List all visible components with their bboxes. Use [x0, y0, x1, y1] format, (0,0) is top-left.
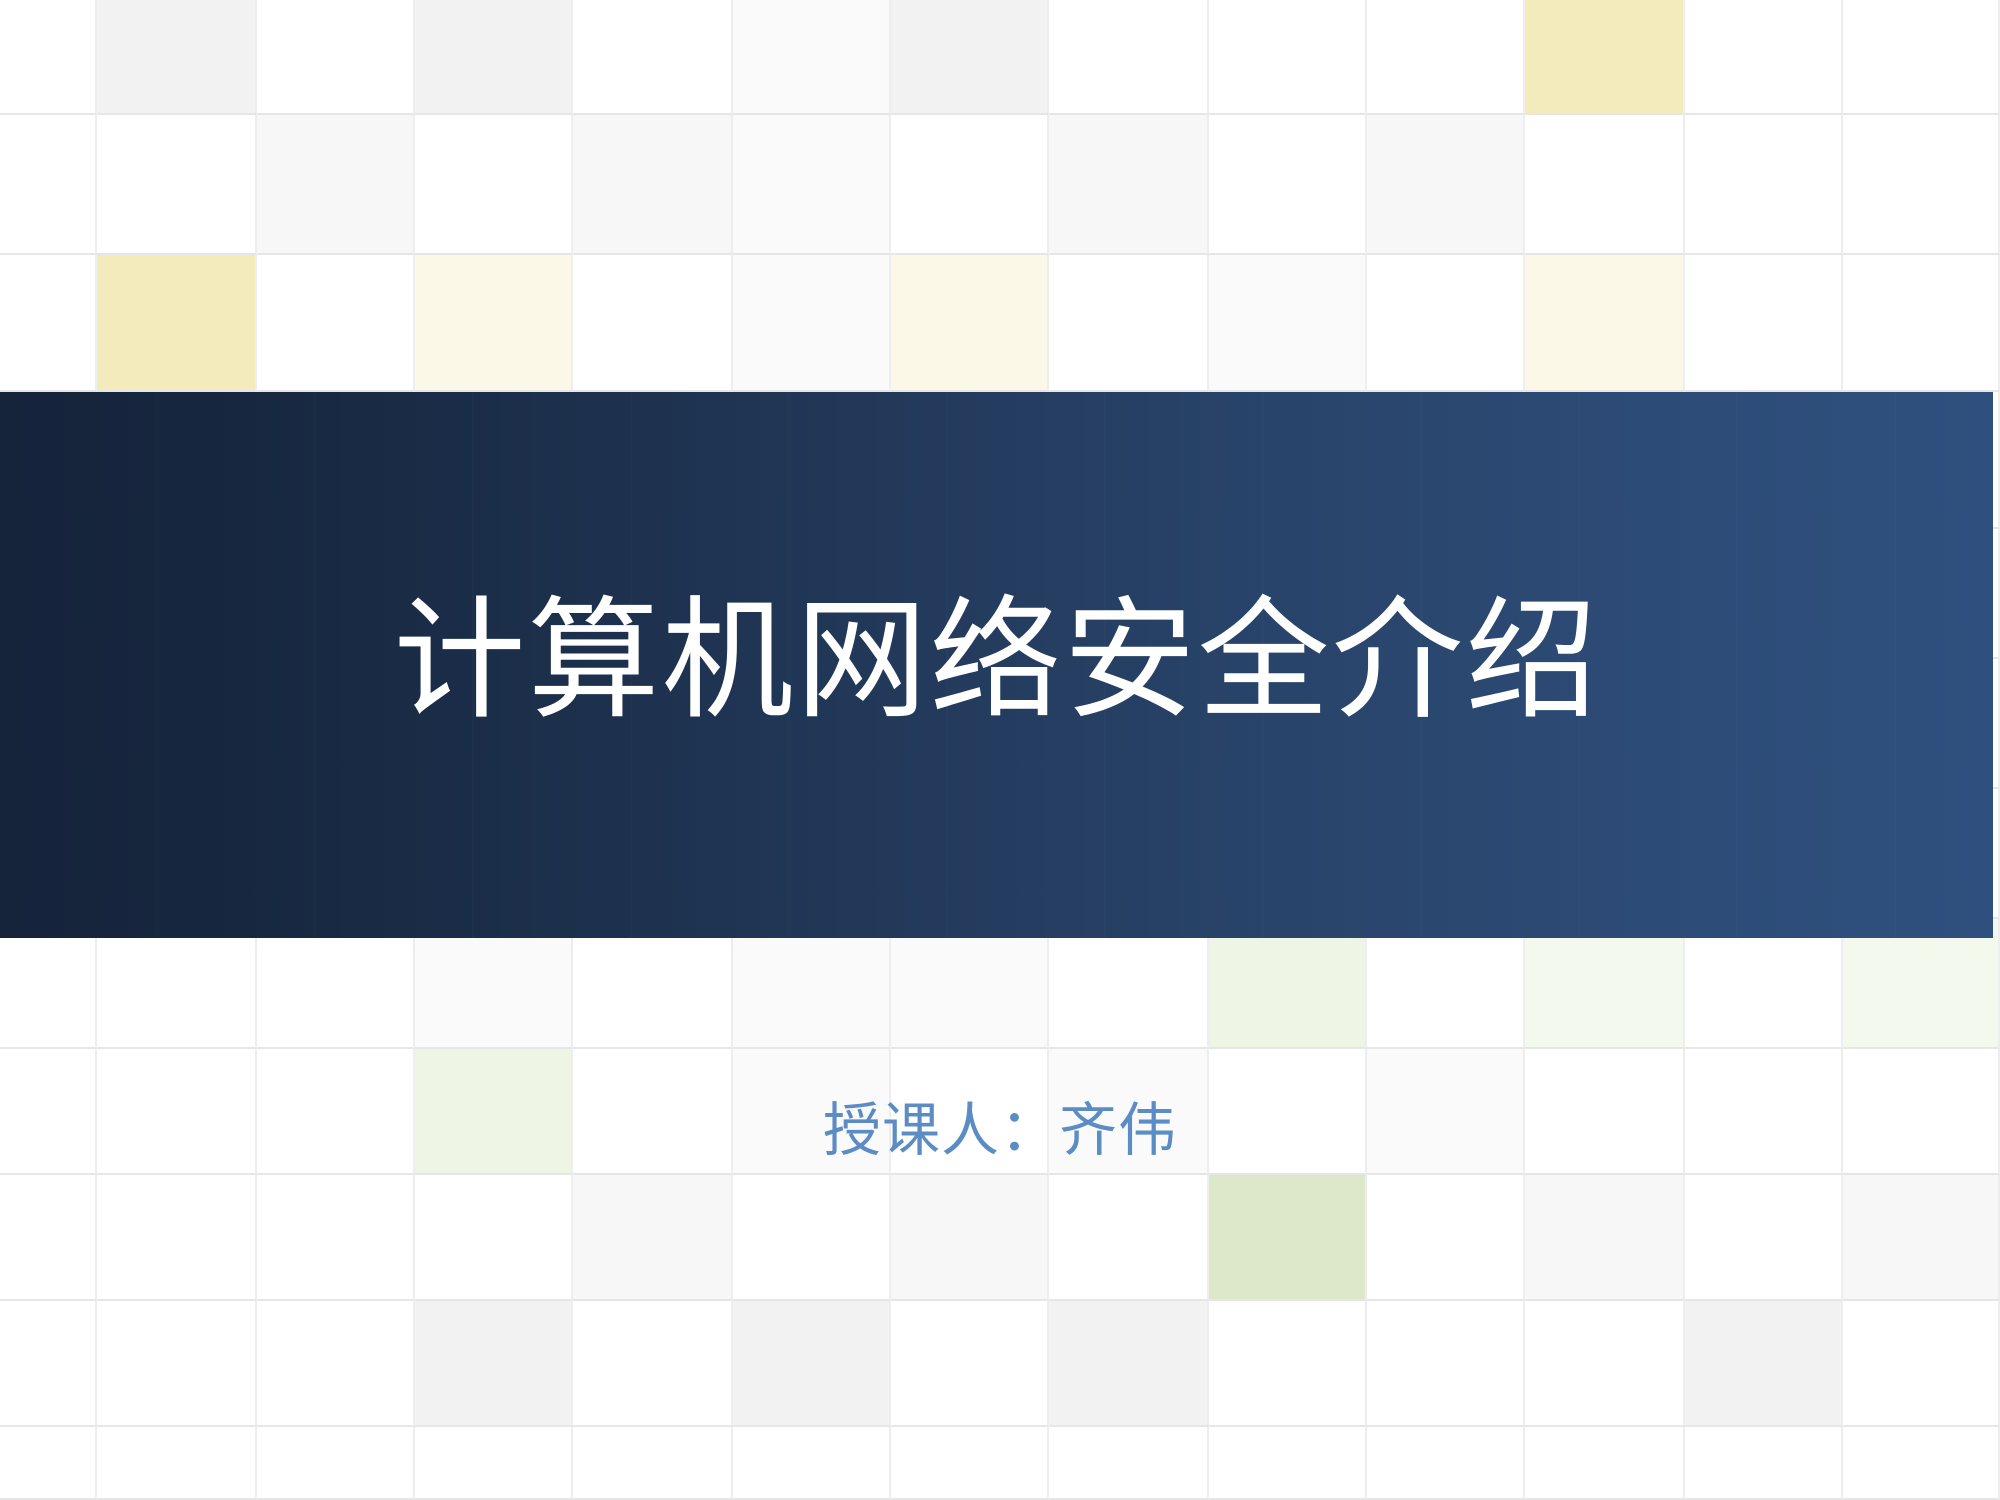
grid-cell-10-6: [891, 1301, 1049, 1427]
grid-cell-11-7: [1049, 1427, 1209, 1500]
grid-cell-0-1: [97, 0, 257, 115]
presenter-subtitle: 授课人：齐伟: [0, 1060, 2000, 1190]
grid-cell-10-2: [257, 1301, 415, 1427]
grid-cell-2-6: [891, 255, 1049, 392]
grid-cell-1-10: [1525, 115, 1685, 255]
grid-cell-0-0: [0, 0, 97, 115]
grid-cell-11-11: [1685, 1427, 1843, 1500]
grid-cell-1-1: [97, 115, 257, 255]
grid-cell-11-12: [1843, 1427, 2000, 1500]
grid-cell-7-12: [1843, 919, 2000, 1049]
grid-cell-10-7: [1049, 1301, 1209, 1427]
grid-cell-9-7: [1049, 1175, 1209, 1301]
page-title: 计算机网络安全介绍: [0, 392, 1993, 938]
grid-cell-0-12: [1843, 0, 2000, 115]
grid-cell-11-2: [257, 1427, 415, 1500]
grid-cell-1-3: [415, 115, 573, 255]
grid-cell-11-1: [97, 1427, 257, 1500]
grid-cell-2-5: [733, 255, 891, 392]
grid-cell-11-3: [415, 1427, 573, 1500]
grid-cell-11-10: [1525, 1427, 1685, 1500]
grid-cell-11-6: [891, 1427, 1049, 1500]
grid-cell-10-12: [1843, 1301, 2000, 1427]
grid-cell-1-7: [1049, 115, 1209, 255]
grid-cell-2-1: [97, 255, 257, 392]
grid-cell-1-12: [1843, 115, 2000, 255]
grid-cell-2-9: [1367, 255, 1525, 392]
grid-cell-0-8: [1209, 0, 1367, 115]
grid-cell-10-1: [97, 1301, 257, 1427]
grid-cell-1-9: [1367, 115, 1525, 255]
grid-cell-1-6: [891, 115, 1049, 255]
grid-cell-0-4: [573, 0, 733, 115]
grid-cell-9-11: [1685, 1175, 1843, 1301]
grid-cell-9-0: [0, 1175, 97, 1301]
grid-cell-9-5: [733, 1175, 891, 1301]
grid-cell-2-0: [0, 255, 97, 392]
grid-cell-10-5: [733, 1301, 891, 1427]
grid-cell-9-8: [1209, 1175, 1367, 1301]
grid-cell-11-9: [1367, 1427, 1525, 1500]
grid-cell-9-3: [415, 1175, 573, 1301]
grid-cell-0-7: [1049, 0, 1209, 115]
grid-cell-7-5: [733, 919, 891, 1049]
grid-cell-10-3: [415, 1301, 573, 1427]
grid-cell-2-4: [573, 255, 733, 392]
grid-cell-9-2: [257, 1175, 415, 1301]
grid-cell-11-5: [733, 1427, 891, 1500]
grid-cell-7-3: [415, 919, 573, 1049]
grid-cell-1-5: [733, 115, 891, 255]
grid-cell-9-12: [1843, 1175, 2000, 1301]
grid-cell-11-8: [1209, 1427, 1367, 1500]
grid-cell-7-8: [1209, 919, 1367, 1049]
presentation-slide: 计算机网络安全介绍 授课人：齐伟: [0, 0, 2000, 1500]
grid-cell-2-11: [1685, 255, 1843, 392]
grid-cell-7-0: [0, 919, 97, 1049]
grid-cell-2-12: [1843, 255, 2000, 392]
grid-cell-2-7: [1049, 255, 1209, 392]
grid-cell-0-2: [257, 0, 415, 115]
grid-cell-0-6: [891, 0, 1049, 115]
grid-cell-10-8: [1209, 1301, 1367, 1427]
grid-cell-9-4: [573, 1175, 733, 1301]
grid-cell-10-10: [1525, 1301, 1685, 1427]
grid-cell-0-10: [1525, 0, 1685, 115]
grid-cell-7-2: [257, 919, 415, 1049]
grid-cell-11-0: [0, 1427, 97, 1500]
grid-cell-11-4: [573, 1427, 733, 1500]
grid-cell-7-10: [1525, 919, 1685, 1049]
grid-cell-1-4: [573, 115, 733, 255]
grid-cell-9-9: [1367, 1175, 1525, 1301]
grid-cell-0-3: [415, 0, 573, 115]
grid-cell-1-2: [257, 115, 415, 255]
grid-cell-2-8: [1209, 255, 1367, 392]
grid-cell-0-9: [1367, 0, 1525, 115]
grid-cell-7-9: [1367, 919, 1525, 1049]
grid-cell-7-7: [1049, 919, 1209, 1049]
grid-cell-0-11: [1685, 0, 1843, 115]
grid-cell-2-3: [415, 255, 573, 392]
grid-cell-10-9: [1367, 1301, 1525, 1427]
grid-cell-10-11: [1685, 1301, 1843, 1427]
grid-cell-9-1: [97, 1175, 257, 1301]
grid-cell-7-1: [97, 919, 257, 1049]
grid-cell-0-5: [733, 0, 891, 115]
grid-cell-7-11: [1685, 919, 1843, 1049]
grid-cell-1-8: [1209, 115, 1367, 255]
grid-cell-9-6: [891, 1175, 1049, 1301]
grid-cell-7-6: [891, 919, 1049, 1049]
grid-cell-2-10: [1525, 255, 1685, 392]
grid-cell-7-4: [573, 919, 733, 1049]
grid-cell-9-10: [1525, 1175, 1685, 1301]
grid-cell-1-0: [0, 115, 97, 255]
title-banner: 计算机网络安全介绍: [0, 392, 1993, 938]
grid-cell-1-11: [1685, 115, 1843, 255]
grid-cell-2-2: [257, 255, 415, 392]
grid-cell-10-4: [573, 1301, 733, 1427]
grid-cell-10-0: [0, 1301, 97, 1427]
